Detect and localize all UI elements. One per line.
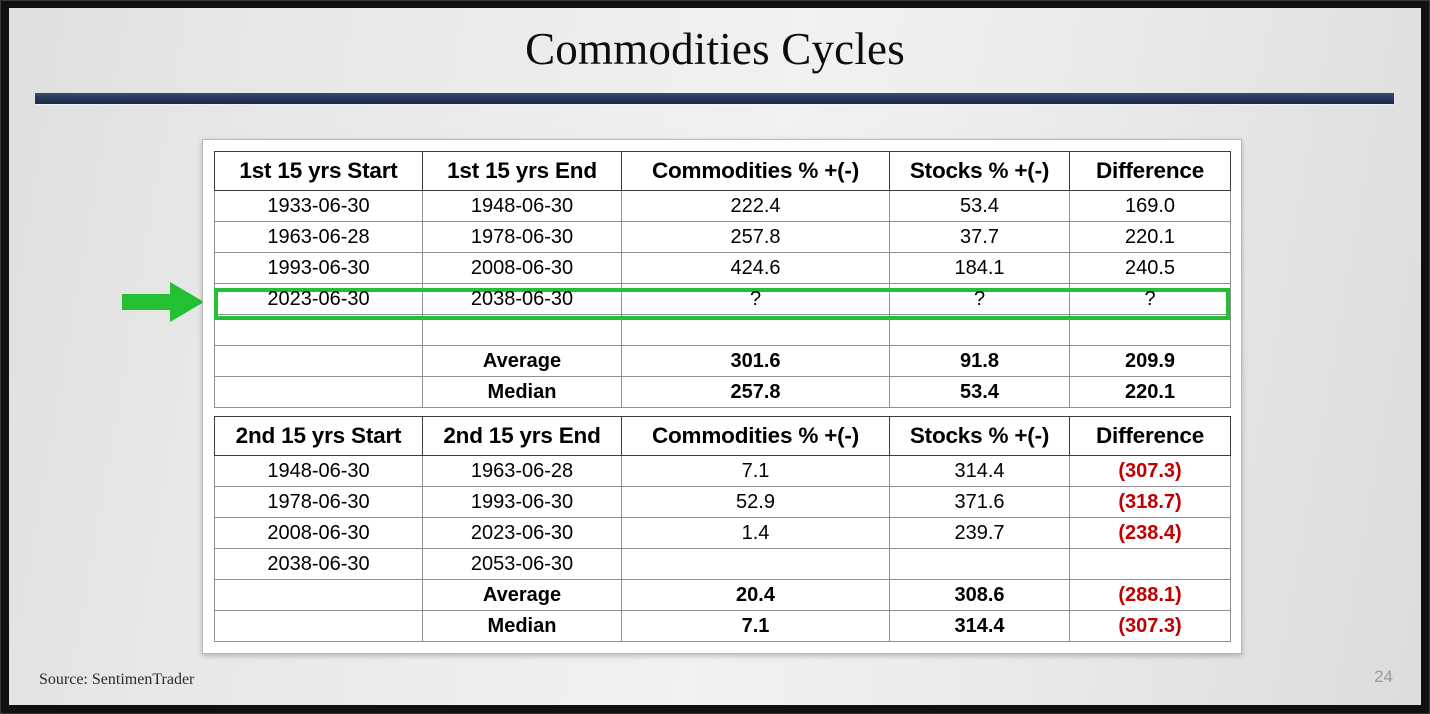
cell-stat-label: Average — [423, 346, 622, 377]
cell-start — [215, 377, 423, 408]
column-header-end: 2nd 15 yrs End — [423, 417, 622, 456]
column-header-difference: Difference — [1070, 417, 1231, 456]
column-header-commodities: Commodities % +(-) — [622, 152, 890, 191]
table-row-average: Average 20.4 308.6 (288.1) — [215, 580, 1231, 611]
cell-commodities: 257.8 — [622, 377, 890, 408]
cell-stocks-unknown: ? — [890, 284, 1070, 315]
cell-start: 2023-06-30 — [215, 284, 423, 315]
column-header-commodities: Commodities % +(-) — [622, 417, 890, 456]
column-header-start: 2nd 15 yrs Start — [215, 417, 423, 456]
cell-stocks: 314.4 — [890, 611, 1070, 642]
cell-end: 1978-06-30 — [423, 222, 622, 253]
table-first-15-years: 1st 15 yrs Start 1st 15 yrs End Commodit… — [214, 151, 1231, 408]
cell-start: 2038-06-30 — [215, 549, 423, 580]
cell-end: 1963-06-28 — [423, 456, 622, 487]
cell-difference: 240.5 — [1070, 253, 1231, 284]
cell-stocks: 314.4 — [890, 456, 1070, 487]
cell-commodities: 222.4 — [622, 191, 890, 222]
cell-commodities-unknown: ? — [622, 284, 890, 315]
slide-frame: Commodities Cycles 1st 15 yrs Start 1st … — [0, 0, 1430, 714]
cell-stocks: 184.1 — [890, 253, 1070, 284]
cell-difference — [1070, 315, 1231, 346]
cell-commodities: 424.6 — [622, 253, 890, 284]
cell-stocks: 53.4 — [890, 191, 1070, 222]
table-row: 2008-06-30 2023-06-30 1.4 239.7 (238.4) — [215, 518, 1231, 549]
cell-start — [215, 611, 423, 642]
cell-difference: 220.1 — [1070, 377, 1231, 408]
cell-commodities: 1.4 — [622, 518, 890, 549]
column-header-start: 1st 15 yrs Start — [215, 152, 423, 191]
column-header-stocks: Stocks % +(-) — [890, 417, 1070, 456]
cell-end: 2053-06-30 — [423, 549, 622, 580]
green-right-arrow-icon — [122, 280, 204, 324]
cell-end: 1993-06-30 — [423, 487, 622, 518]
cell-difference-negative: (318.7) — [1070, 487, 1231, 518]
table-row: 2038-06-30 2053-06-30 — [215, 549, 1231, 580]
cell-commodities: 7.1 — [622, 456, 890, 487]
page-number: 24 — [1374, 667, 1393, 687]
cell-end: 2008-06-30 — [423, 253, 622, 284]
table-row-highlighted: 2023-06-30 2038-06-30 ? ? ? — [215, 284, 1231, 315]
cell-start — [215, 580, 423, 611]
cell-start: 2008-06-30 — [215, 518, 423, 549]
cell-start: 1948-06-30 — [215, 456, 423, 487]
tables-panel: 1st 15 yrs Start 1st 15 yrs End Commodit… — [202, 139, 1242, 654]
column-header-end: 1st 15 yrs End — [423, 152, 622, 191]
cell-difference: 220.1 — [1070, 222, 1231, 253]
table-row: 1948-06-30 1963-06-28 7.1 314.4 (307.3) — [215, 456, 1231, 487]
table-row: 1993-06-30 2008-06-30 424.6 184.1 240.5 — [215, 253, 1231, 284]
cell-stat-label: Median — [423, 377, 622, 408]
cell-end — [423, 315, 622, 346]
cell-start: 1933-06-30 — [215, 191, 423, 222]
cell-difference: 209.9 — [1070, 346, 1231, 377]
cell-end: 1948-06-30 — [423, 191, 622, 222]
table-second-15-years: 2nd 15 yrs Start 2nd 15 yrs End Commodit… — [214, 416, 1231, 642]
cell-start — [215, 315, 423, 346]
cell-commodities — [622, 315, 890, 346]
cell-commodities: 301.6 — [622, 346, 890, 377]
cell-commodities: 20.4 — [622, 580, 890, 611]
cell-stocks: 308.6 — [890, 580, 1070, 611]
source-attribution: Source: SentimenTrader — [39, 671, 194, 689]
table-row-median: Median 7.1 314.4 (307.3) — [215, 611, 1231, 642]
cell-stocks: 37.7 — [890, 222, 1070, 253]
cell-commodities — [622, 549, 890, 580]
cell-commodities: 257.8 — [622, 222, 890, 253]
cell-stocks: 91.8 — [890, 346, 1070, 377]
column-header-stocks: Stocks % +(-) — [890, 152, 1070, 191]
cell-difference-negative: (288.1) — [1070, 580, 1231, 611]
cell-start — [215, 346, 423, 377]
cell-difference: 169.0 — [1070, 191, 1231, 222]
page-title: Commodities Cycles — [9, 26, 1421, 73]
title-divider-rule — [35, 93, 1394, 104]
cell-start: 1963-06-28 — [215, 222, 423, 253]
table-row-empty — [215, 315, 1231, 346]
cell-difference-negative: (307.3) — [1070, 456, 1231, 487]
cell-difference-negative: (307.3) — [1070, 611, 1231, 642]
table-row: 1933-06-30 1948-06-30 222.4 53.4 169.0 — [215, 191, 1231, 222]
cell-end: 2038-06-30 — [423, 284, 622, 315]
table-row-average: Average 301.6 91.8 209.9 — [215, 346, 1231, 377]
table-header-row: 2nd 15 yrs Start 2nd 15 yrs End Commodit… — [215, 417, 1231, 456]
cell-commodities: 52.9 — [622, 487, 890, 518]
cell-stocks — [890, 549, 1070, 580]
table-row-median: Median 257.8 53.4 220.1 — [215, 377, 1231, 408]
cell-stocks: 53.4 — [890, 377, 1070, 408]
cell-stocks — [890, 315, 1070, 346]
cell-commodities: 7.1 — [622, 611, 890, 642]
cell-start: 1993-06-30 — [215, 253, 423, 284]
cell-start: 1978-06-30 — [215, 487, 423, 518]
table-header-row: 1st 15 yrs Start 1st 15 yrs End Commodit… — [215, 152, 1231, 191]
cell-difference — [1070, 549, 1231, 580]
cell-difference-negative: (238.4) — [1070, 518, 1231, 549]
cell-stocks: 239.7 — [890, 518, 1070, 549]
column-header-difference: Difference — [1070, 152, 1231, 191]
cell-stat-label: Median — [423, 611, 622, 642]
cell-stocks: 371.6 — [890, 487, 1070, 518]
cell-difference-unknown: ? — [1070, 284, 1231, 315]
table-row: 1978-06-30 1993-06-30 52.9 371.6 (318.7) — [215, 487, 1231, 518]
cell-end: 2023-06-30 — [423, 518, 622, 549]
slide-canvas: Commodities Cycles 1st 15 yrs Start 1st … — [9, 8, 1421, 705]
cell-stat-label: Average — [423, 580, 622, 611]
table-row: 1963-06-28 1978-06-30 257.8 37.7 220.1 — [215, 222, 1231, 253]
